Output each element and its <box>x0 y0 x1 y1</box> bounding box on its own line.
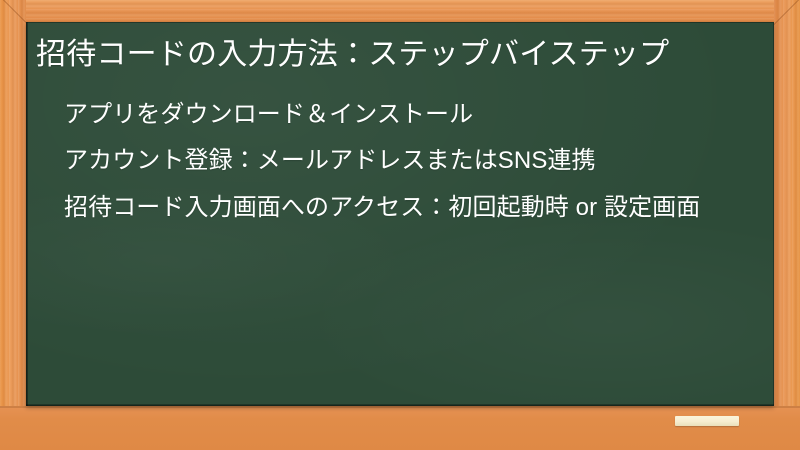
list-item: 招待コード入力画面へのアクセス：初回起動時 or 設定画面 <box>64 192 734 225</box>
board-inner-edge-bottom <box>26 404 774 406</box>
list-item: アプリをダウンロード＆インストール <box>64 99 734 132</box>
frame-rail-top <box>0 0 800 24</box>
frame-ledge-bottom <box>0 406 800 450</box>
frame-rail-left <box>0 0 26 450</box>
chalkboard-slide: 招待コードの入力方法：ステップバイステップ アプリをダウンロード＆インストール … <box>0 0 800 450</box>
chalk-stick-icon <box>675 416 739 426</box>
list-item: アカウント登録：メールアドレスまたはSNS連携 <box>64 145 734 178</box>
step-list: アプリをダウンロード＆インストール アカウント登録：メールアドレスまたはSNS連… <box>34 99 748 225</box>
chalkboard-surface: 招待コードの入力方法：ステップバイステップ アプリをダウンロード＆インストール … <box>26 22 774 406</box>
slide-content: 招待コードの入力方法：ステップバイステップ アプリをダウンロード＆インストール … <box>26 22 774 224</box>
slide-title: 招待コードの入力方法：ステップバイステップ <box>34 30 748 77</box>
frame-rail-right <box>774 0 800 450</box>
